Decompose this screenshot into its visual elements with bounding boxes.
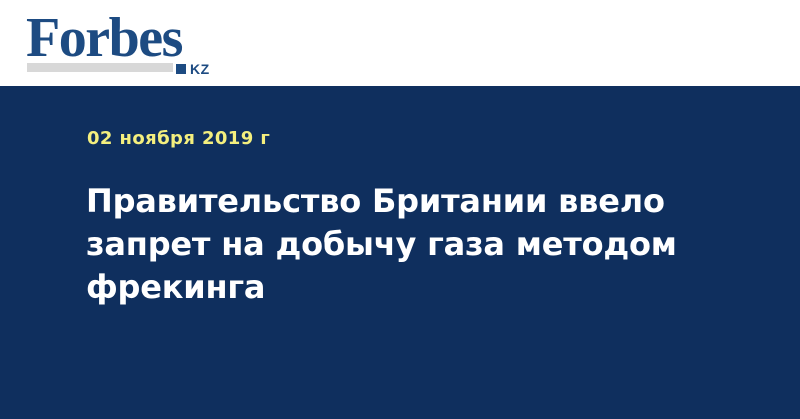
- headline-line: запрет на добычу газа методом: [86, 223, 706, 266]
- logo-rule-divider: [27, 63, 173, 72]
- logo-kz-block: KZ: [176, 62, 210, 76]
- forbes-wordmark: Forbes: [26, 10, 182, 66]
- headline-line: Правительство Британии ввело: [86, 180, 706, 223]
- article-card-page: Forbes KZ 02 ноября 2019 г Правительство…: [0, 0, 800, 419]
- site-header: Forbes KZ: [0, 0, 800, 86]
- square-icon: [176, 64, 186, 74]
- article-date: 02 ноября 2019 г: [87, 128, 270, 150]
- forbes-kz-logo[interactable]: Forbes KZ: [26, 10, 246, 76]
- article-headline[interactable]: Правительство Британии ввело запрет на д…: [86, 180, 706, 309]
- headline-line: фрекинга: [86, 266, 706, 309]
- logo-country-suffix: KZ: [190, 62, 210, 76]
- article-hero: 02 ноября 2019 г Правительство Британии …: [0, 86, 800, 419]
